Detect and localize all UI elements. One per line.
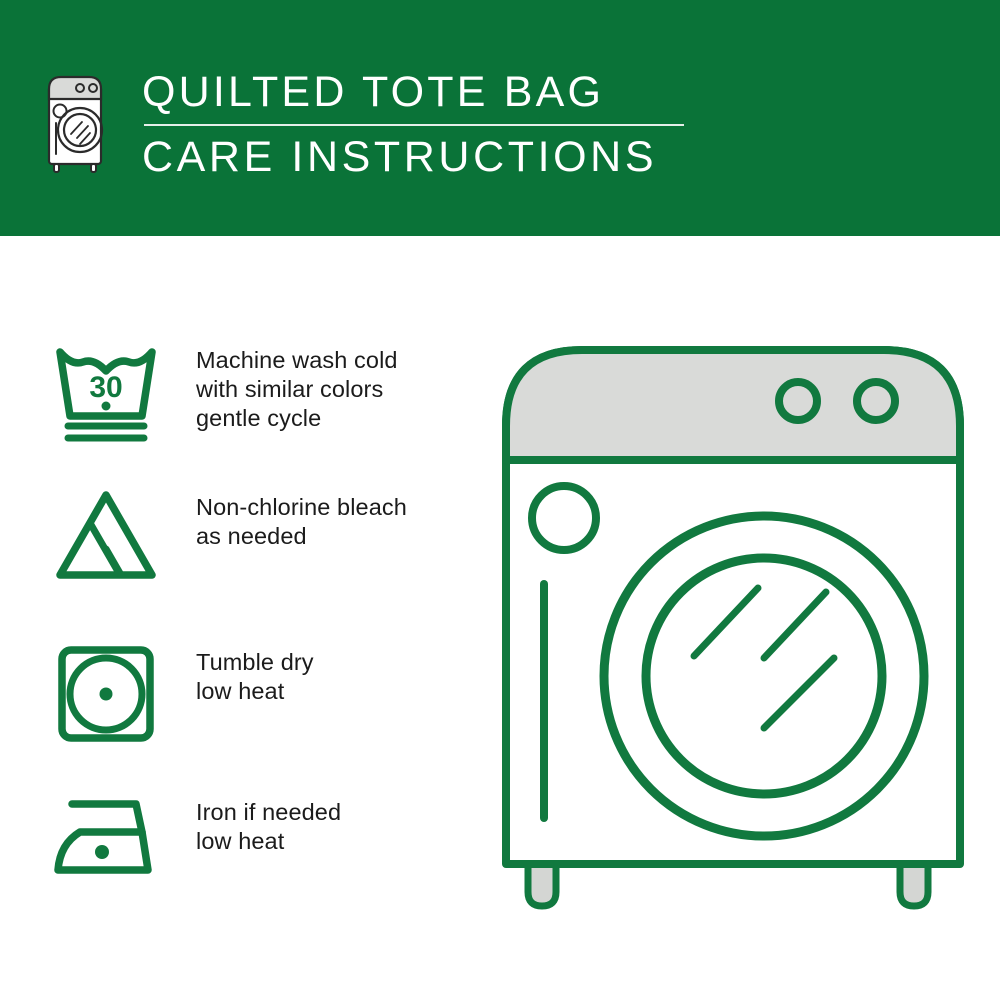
care-instruction-label: Machine wash cold with similar colors ge… [196, 340, 398, 433]
header-band: QUILTED TOTE BAG CARE INSTRUCTIONS [0, 0, 1000, 236]
iron-low-heat-icon [44, 792, 168, 882]
care-instruction-label: Iron if needed low heat [196, 792, 341, 856]
non-chlorine-bleach-triangle-icon [44, 487, 168, 583]
washing-machine-icon [44, 68, 110, 174]
wash-tub-30-gentle-icon: 30 [44, 340, 168, 444]
tumble-dry-low-heat-icon [44, 642, 168, 746]
header-text-block: QUILTED TOTE BAG CARE INSTRUCTIONS [142, 66, 702, 184]
wash-temperature-value: 30 [89, 371, 122, 404]
page-subtitle: CARE INSTRUCTIONS [142, 130, 702, 184]
care-instructions-infographic: QUILTED TOTE BAG CARE INSTRUCTIONS 30 Ma… [0, 0, 1000, 1000]
care-instruction-label: Non-chlorine bleach as needed [196, 487, 407, 551]
care-instruction-row: Tumble dry low heat [44, 642, 514, 746]
care-instruction-label: Tumble dry low heat [196, 642, 314, 706]
front-load-washing-machine-illustration [496, 336, 972, 928]
page-title: QUILTED TOTE BAG [142, 66, 702, 118]
care-instruction-row: 30 Machine wash cold with similar colors… [44, 340, 514, 444]
title-divider [144, 124, 684, 126]
care-instruction-row: Non-chlorine bleach as needed [44, 487, 514, 583]
care-instruction-row: Iron if needed low heat [44, 792, 514, 882]
